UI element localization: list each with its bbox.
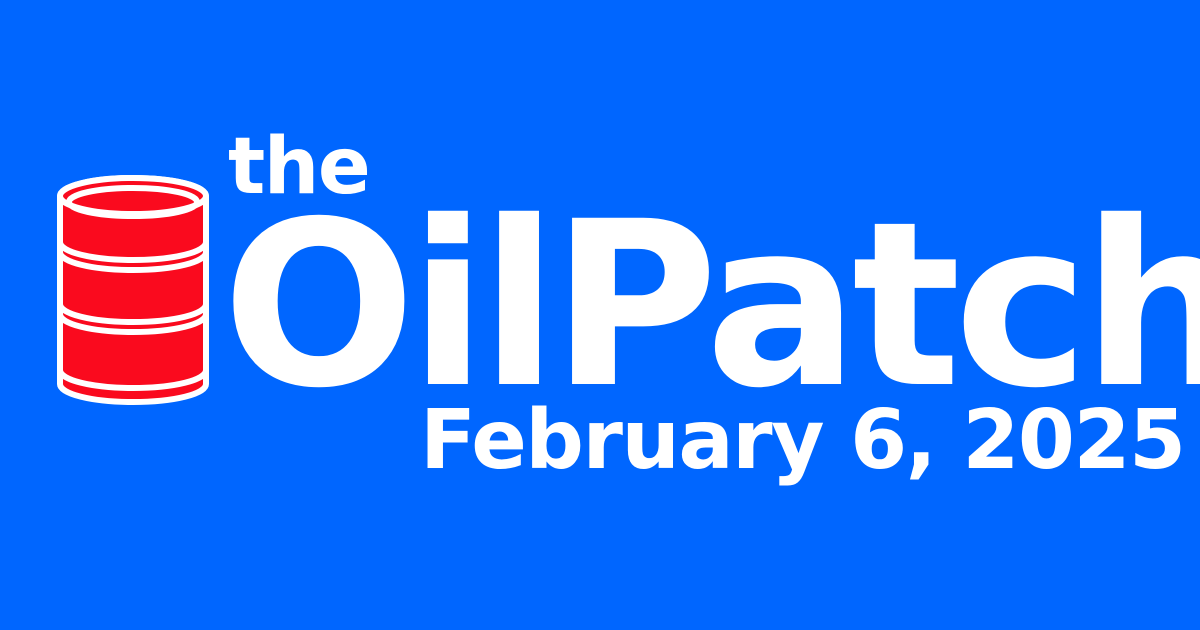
publication-date: February 6, 2025 xyxy=(420,400,1185,482)
social-card: the OilPatch February 6, 2025 xyxy=(0,0,1200,630)
wordmark-block: the OilPatch February 6, 2025 xyxy=(228,128,1168,478)
oil-barrel-icon xyxy=(54,174,212,406)
page-title: OilPatch xyxy=(222,191,1200,419)
